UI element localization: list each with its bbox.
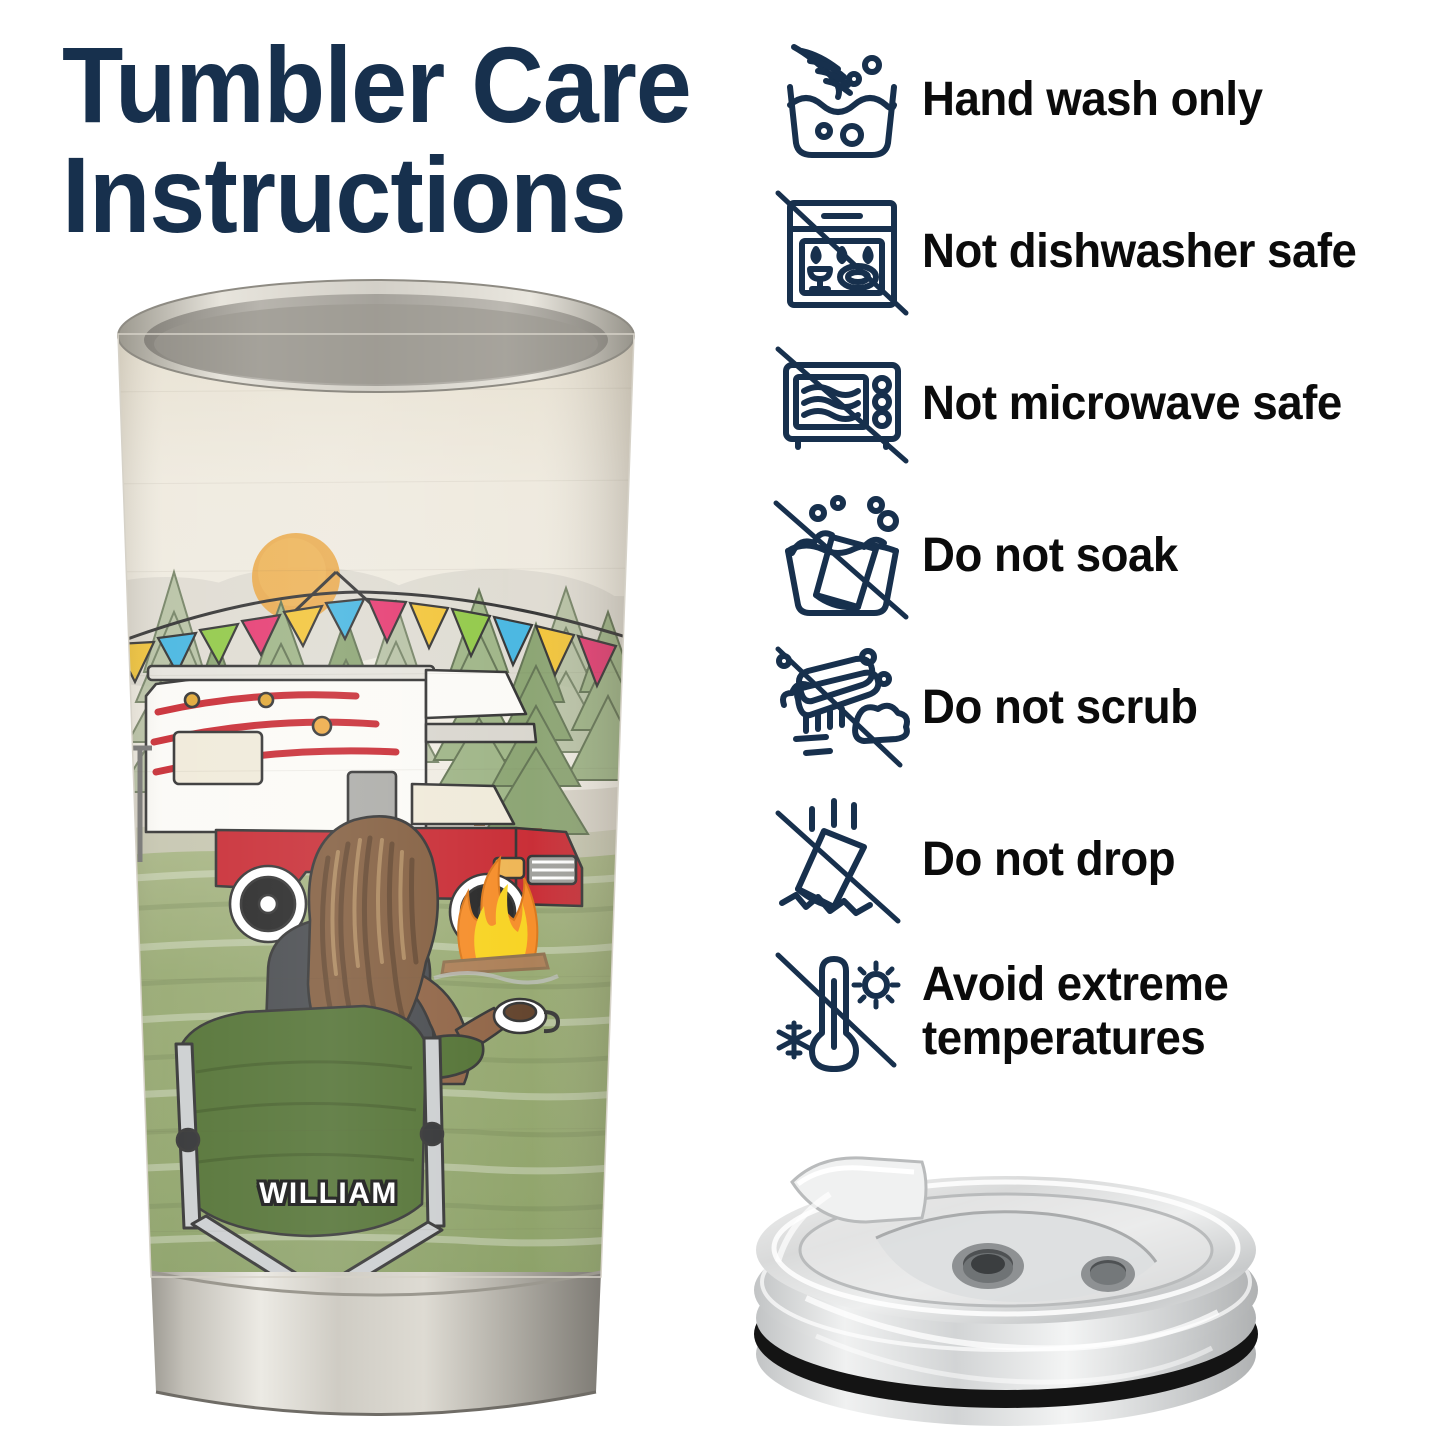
care-row-hand-wash: Hand wash only	[762, 24, 1432, 176]
care-label: Avoid extreme temperatures	[922, 958, 1407, 1066]
care-row-extreme-temp: Avoid extreme temperatures	[762, 936, 1432, 1088]
care-row-drop: Do not drop	[762, 784, 1432, 936]
tumbler-illustration	[96, 272, 656, 1432]
no-dishwasher-icon	[762, 187, 922, 317]
product-care-instructions-page: Tumbler Care Instructions	[0, 0, 1445, 1445]
care-label: Not microwave safe	[922, 377, 1407, 431]
care-row-microwave: Not microwave safe	[762, 328, 1432, 480]
no-drop-icon	[762, 795, 922, 925]
care-row-dishwasher: Not dishwasher safe	[762, 176, 1432, 328]
care-label: Do not scrub	[922, 681, 1407, 735]
care-label: Do not soak	[922, 529, 1407, 583]
no-microwave-icon	[762, 339, 922, 469]
care-instructions-list: Hand wash only	[762, 24, 1432, 1088]
care-label: Not dishwasher safe	[922, 225, 1407, 279]
care-label: Hand wash only	[922, 73, 1407, 127]
page-title: Tumbler Care Instructions	[62, 30, 713, 250]
hand-wash-icon	[762, 35, 922, 165]
care-row-soak: Do not soak	[762, 480, 1432, 632]
tumbler-base	[136, 1267, 616, 1432]
no-scrub-icon	[762, 643, 922, 773]
care-label: Do not drop	[922, 833, 1407, 887]
lid-illustration	[726, 1122, 1286, 1440]
tumbler-lid-image	[726, 1122, 1286, 1440]
no-soak-icon	[762, 491, 922, 621]
care-row-scrub: Do not scrub	[762, 632, 1432, 784]
no-extreme-temp-icon	[762, 947, 922, 1077]
tumbler-product-image: WILLIAM	[96, 272, 656, 1432]
